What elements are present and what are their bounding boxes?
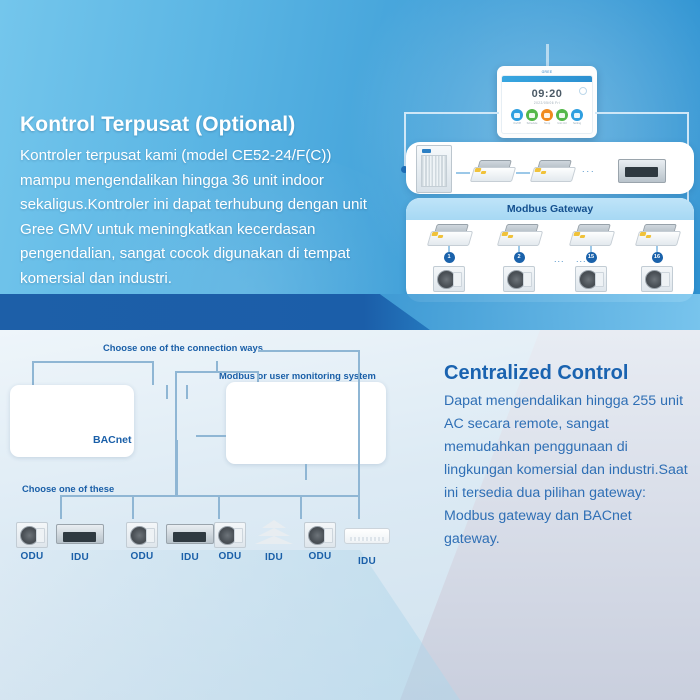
unit-pair-2-idu: IDU <box>166 524 214 563</box>
building-card-stem <box>305 464 307 480</box>
odu-label-1: ODU <box>12 551 52 562</box>
vrf-ellipsis: ... <box>582 164 596 174</box>
page-description: Kontroler terpusat kami (model CE52-24/F… <box>20 144 380 292</box>
label-connection-ways: Choose one of the connection ways <box>103 342 263 353</box>
laptop-cable-1 <box>166 385 168 399</box>
vrf-link-1 <box>456 172 470 174</box>
dist-right-riser <box>358 350 360 495</box>
controller-button-row <box>502 109 592 121</box>
vrf-link-2 <box>516 172 530 174</box>
bracket-path-b <box>152 361 154 385</box>
dist-drop-2 <box>132 495 134 519</box>
outdoor-unit-1 <box>420 266 478 292</box>
section-title: Centralized Control <box>444 362 628 385</box>
unit-ctrl-label: Unit Ctrl <box>556 122 568 125</box>
idu-label-4: IDU <box>344 556 390 567</box>
unit-pair-4-odu: ODU <box>300 522 340 562</box>
controller-date: 2022/05/06 Fri <box>502 101 592 105</box>
idu-label-2: IDU <box>166 552 214 563</box>
unit-pair-1-idu: IDU <box>56 524 104 563</box>
gateway-link-16 <box>656 246 658 252</box>
onoff-icon[interactable] <box>511 109 523 121</box>
schedule-icon[interactable] <box>526 109 538 121</box>
dist-bus-horizontal <box>60 495 360 497</box>
top-section: Kontrol Terpusat (Optional) Kontroler te… <box>0 0 700 330</box>
laptop-cable-2 <box>186 385 188 399</box>
laptop-stem <box>176 440 178 495</box>
unit-pair-3-idu: IDU <box>254 520 294 563</box>
controller-titlebar <box>502 76 592 82</box>
odu-label-4: ODU <box>300 551 340 562</box>
label-choose-these: Choose one of these <box>22 483 114 494</box>
gateway-link-15 <box>590 246 592 252</box>
building-left-link <box>196 435 226 437</box>
dist-drop-4 <box>300 495 302 519</box>
bracket-left-drop <box>175 371 177 385</box>
unit-badge-1: 1 <box>444 252 455 263</box>
bacnet-label: BACnet <box>93 434 132 446</box>
unit-pair-2-odu: ODU <box>122 522 162 562</box>
temp-label: Temp <box>541 122 553 125</box>
unit-pair-4-idu: IDU <box>344 528 390 567</box>
odu-label-2: ODU <box>122 551 162 562</box>
modbus-gateway-panel: Modbus Gateway 1 2 ... ... <box>406 198 694 302</box>
outdoor-unit-15 <box>562 266 620 292</box>
cassette-cone-icon <box>256 520 292 544</box>
bottom-wedge-secondary <box>0 550 460 700</box>
building-services-card <box>226 382 386 464</box>
temp-icon[interactable] <box>541 109 553 121</box>
dist-drop-5 <box>358 495 360 519</box>
gateway-panel-header: Modbus Gateway <box>406 198 694 220</box>
controller-button-labels: On/Off Schedule Temp Unit Ctrl Setting <box>502 122 592 125</box>
page-title: Kontrol Terpusat (Optional) <box>20 113 295 137</box>
unit-ctrl-icon[interactable] <box>556 109 568 121</box>
wall-controller[interactable]: GREE 09:20 2022/05/06 Fri On/Off Schedul… <box>497 66 597 138</box>
bottom-section: Centralized Control Dapat mengendalikan … <box>0 330 700 700</box>
outdoor-unit-2 <box>490 266 548 292</box>
unit-badge-16: 16 <box>652 252 663 263</box>
idu-label-1: IDU <box>56 552 104 563</box>
gateway-unit-16: 16 <box>628 222 686 292</box>
gateway-title: Modbus Gateway <box>507 203 593 215</box>
duct-unit <box>618 159 666 188</box>
schedule-label: Schedule <box>526 122 538 125</box>
gateway-unit-15: 15 <box>562 222 620 292</box>
outdoor-unit-16 <box>628 266 686 292</box>
cassette-unit-1 <box>472 160 512 187</box>
connector-horizontal-left <box>404 112 499 114</box>
vrf-system-panel: ... <box>406 142 694 194</box>
bracket-path-a <box>32 361 34 385</box>
product-infographic: Kontrol Terpusat (Optional) Kontroler te… <box>0 0 700 700</box>
gateway-link-1 <box>448 246 450 252</box>
unit-pair-3-odu: ODU <box>210 522 250 562</box>
dist-drop-3 <box>218 495 220 519</box>
gateway-unit-2: 2 <box>490 222 548 292</box>
controller-screen[interactable]: 09:20 2022/05/06 Fri On/Off Schedule Tem… <box>501 75 593 134</box>
odu-label-3: ODU <box>210 551 250 562</box>
dist-right-top <box>258 350 360 352</box>
setting-icon[interactable] <box>571 109 583 121</box>
gateway-unit-1: 1 <box>420 222 478 292</box>
section-description: Dapat mengendalikan hingga 255 unit AC s… <box>444 390 688 551</box>
cassette-unit-2 <box>532 160 572 187</box>
power-icon[interactable] <box>579 87 587 95</box>
bracket-top-horizontal <box>216 361 218 371</box>
unit-badge-15: 15 <box>586 252 597 263</box>
gateway-device-card <box>10 385 134 457</box>
dist-drop-1 <box>60 495 62 519</box>
connector-horizontal-right <box>595 112 689 114</box>
unit-pair-1-odu: ODU <box>12 522 52 562</box>
unit-badge-2: 2 <box>514 252 525 263</box>
bracket-path-a-top <box>32 361 152 363</box>
gateway-unit-grid: 1 2 ... ... 15 <box>406 220 694 302</box>
outdoor-unit-large <box>416 145 452 198</box>
onoff-label: On/Off <box>511 122 523 125</box>
setting-label: Setting <box>571 122 583 125</box>
idu-label-3: IDU <box>254 552 294 563</box>
gateway-link-2 <box>518 246 520 252</box>
bracket-left-arm <box>175 371 259 373</box>
